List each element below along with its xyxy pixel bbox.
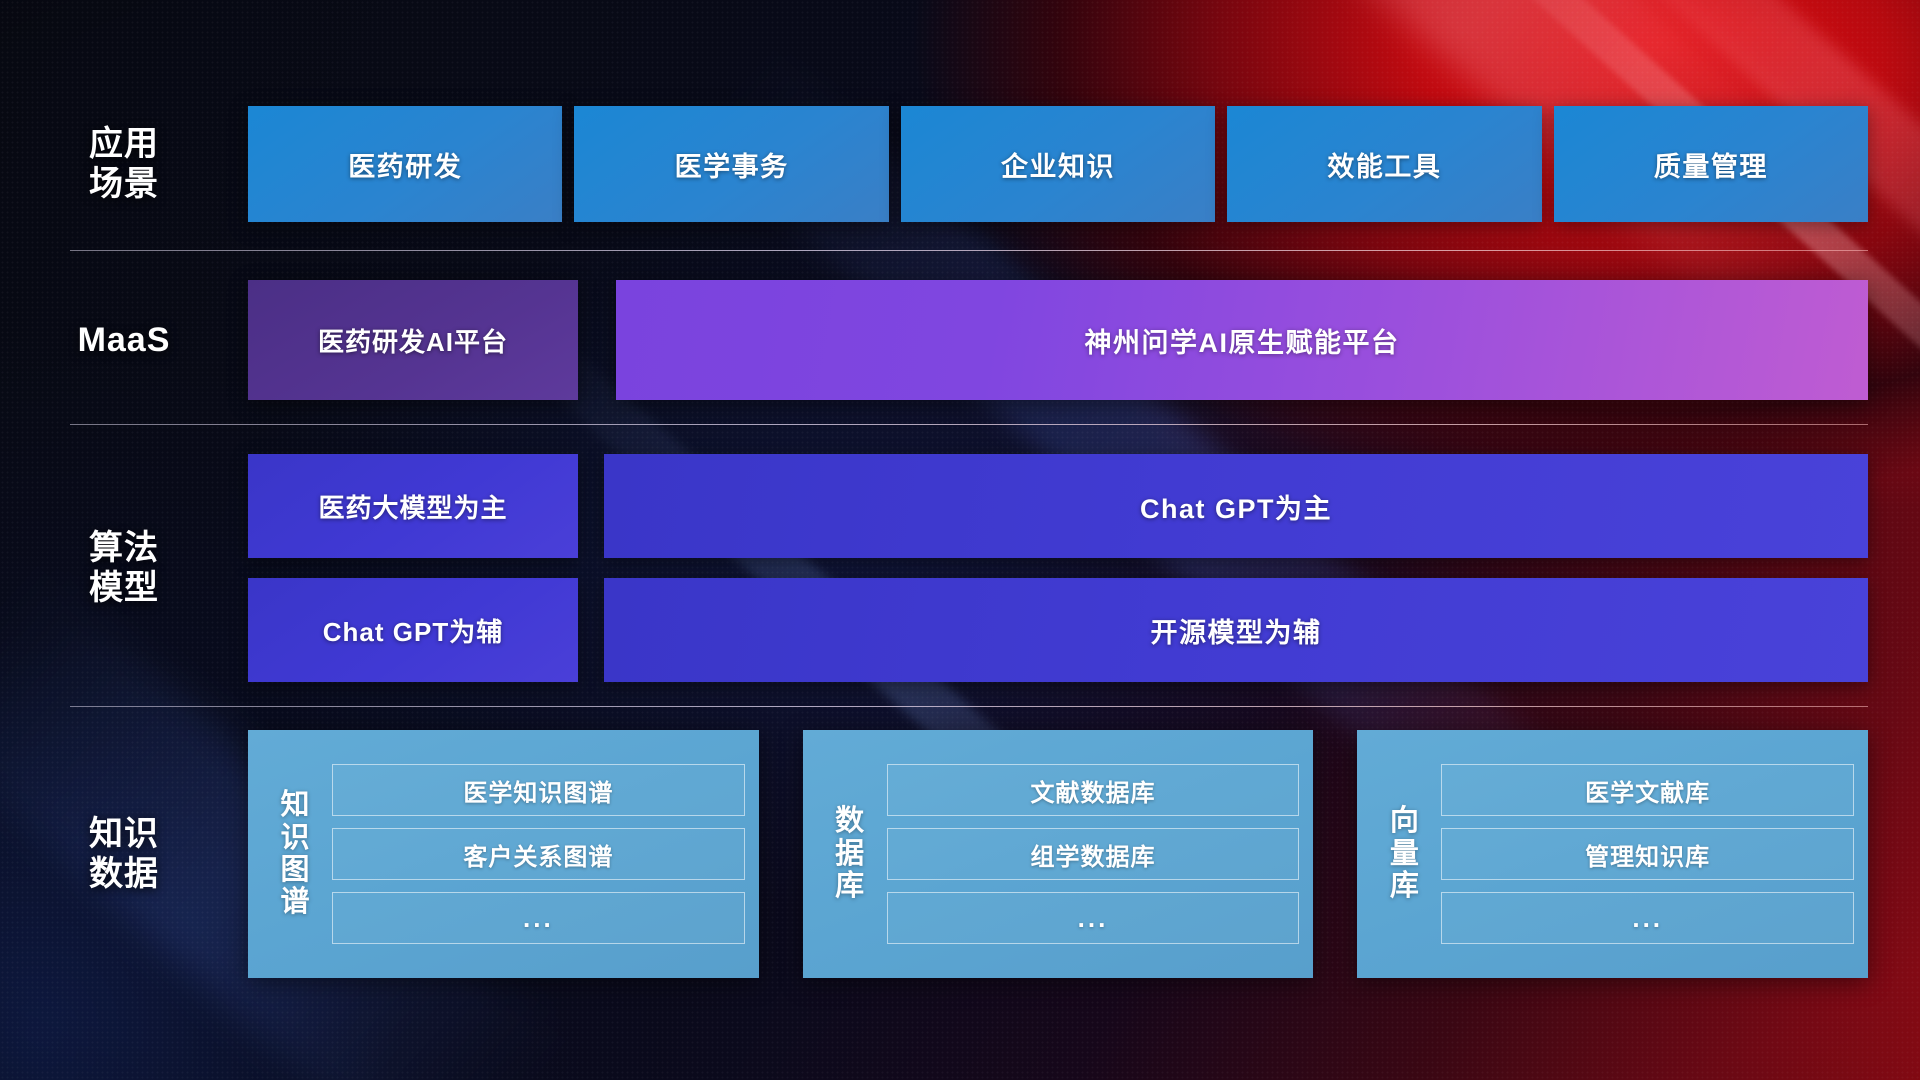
row-label-application-scenarios: 应用 场景 (0, 124, 248, 204)
row-application-scenarios: 应用 场景 医药研发 医学事务 企业知识 效能工具 质量管理 (0, 106, 1920, 222)
divider-models-knowledge (70, 706, 1868, 707)
model-box-opensource-secondary[interactable]: 开源模型为辅 (604, 578, 1868, 682)
row-label-knowledge-data: 知识 数据 (0, 814, 248, 894)
model-box-pharma-llm-primary[interactable]: 医药大模型为主 (248, 454, 578, 558)
row-label-algorithm-models: 算法 模型 (0, 528, 248, 608)
knowledge-item-list-knowledge-graph: 医学知识图谱 客户关系图谱 ... (332, 764, 745, 944)
model-box-chatgpt-primary[interactable]: Chat GPT为主 (604, 454, 1868, 558)
knowledge-group-vector-store[interactable]: 向 量 库 医学文献库 管理知识库 ... (1357, 730, 1868, 978)
scenario-box-enterprise-knowledge[interactable]: 企业知识 (901, 106, 1215, 222)
knowledge-item-more-vector-store[interactable]: ... (1441, 892, 1854, 944)
knowledge-group-title-knowledge-graph: 知 识 图 谱 (258, 789, 332, 919)
model-line-list: 医药大模型为主 Chat GPT为主 Chat GPT为辅 开源模型为辅 (248, 454, 1920, 682)
knowledge-item-customer-relation-graph[interactable]: 客户关系图谱 (332, 828, 745, 880)
knowledge-group-list: 知 识 图 谱 医学知识图谱 客户关系图谱 ... 数 据 库 文献数据库 组学… (248, 730, 1920, 978)
maas-box-shenzhou-wenxue-platform[interactable]: 神州问学AI原生赋能平台 (616, 280, 1868, 400)
knowledge-group-knowledge-graph[interactable]: 知 识 图 谱 医学知识图谱 客户关系图谱 ... (248, 730, 759, 978)
divider-maas-models (70, 424, 1868, 425)
knowledge-group-title-database: 数 据 库 (813, 805, 887, 902)
row-maas: MaaS 医药研发AI平台 神州问学AI原生赋能平台 (0, 280, 1920, 400)
knowledge-group-title-vector-store: 向 量 库 (1367, 805, 1441, 902)
knowledge-item-list-vector-store: 医学文献库 管理知识库 ... (1441, 764, 1854, 944)
maas-box-drug-rd-ai-platform[interactable]: 医药研发AI平台 (248, 280, 578, 400)
scenario-box-list: 医药研发 医学事务 企业知识 效能工具 质量管理 (248, 106, 1920, 222)
knowledge-item-omics-database[interactable]: 组学数据库 (887, 828, 1300, 880)
knowledge-item-medical-literature-store[interactable]: 医学文献库 (1441, 764, 1854, 816)
row-algorithm-models: 算法 模型 医药大模型为主 Chat GPT为主 Chat GPT为辅 开源模型… (0, 454, 1920, 682)
knowledge-item-literature-database[interactable]: 文献数据库 (887, 764, 1300, 816)
model-box-chatgpt-secondary[interactable]: Chat GPT为辅 (248, 578, 578, 682)
row-knowledge-data: 知识 数据 知 识 图 谱 医学知识图谱 客户关系图谱 ... 数 据 库 文献… (0, 730, 1920, 978)
knowledge-group-database[interactable]: 数 据 库 文献数据库 组学数据库 ... (803, 730, 1314, 978)
scenario-box-drug-rd[interactable]: 医药研发 (248, 106, 562, 222)
knowledge-item-more-database[interactable]: ... (887, 892, 1300, 944)
model-line-primary: 医药大模型为主 Chat GPT为主 (248, 454, 1868, 558)
knowledge-item-management-knowledge-store[interactable]: 管理知识库 (1441, 828, 1854, 880)
knowledge-item-list-database: 文献数据库 组学数据库 ... (887, 764, 1300, 944)
row-label-maas: MaaS (0, 320, 248, 360)
scenario-box-medical-affairs[interactable]: 医学事务 (574, 106, 888, 222)
architecture-diagram: 应用 场景 医药研发 医学事务 企业知识 效能工具 质量管理 MaaS 医药研发… (0, 0, 1920, 1080)
model-line-secondary: Chat GPT为辅 开源模型为辅 (248, 578, 1868, 682)
knowledge-item-medical-knowledge-graph[interactable]: 医学知识图谱 (332, 764, 745, 816)
divider-scenarios-maas (70, 250, 1868, 251)
maas-box-list: 医药研发AI平台 神州问学AI原生赋能平台 (248, 280, 1920, 400)
knowledge-item-more-knowledge-graph[interactable]: ... (332, 892, 745, 944)
scenario-box-efficiency-tools[interactable]: 效能工具 (1227, 106, 1541, 222)
scenario-box-quality-management[interactable]: 质量管理 (1554, 106, 1868, 222)
